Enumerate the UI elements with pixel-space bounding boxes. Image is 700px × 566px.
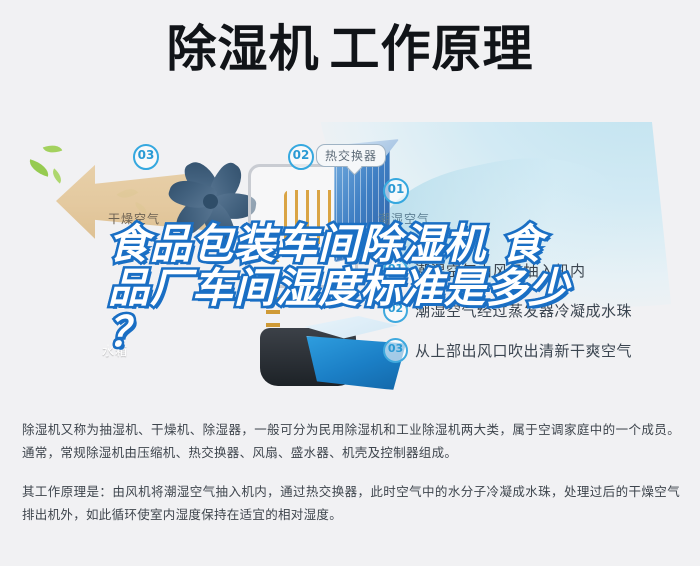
step-number: 01 [383,258,408,283]
page-title: 除湿机工作原理 [0,24,700,74]
diagram-marker-03: 03 [133,144,159,170]
diagram-marker-01: 01 [383,178,409,204]
fan-hub [203,194,218,209]
dehumidifier-diagram: 干燥空气 水箱 03 02 热交换器 01 潮湿空气 [0,122,700,407]
step-text: 从上部出风口吹出清新干爽空气 [415,340,632,361]
heat-exchanger-callout: 热交换器 [316,144,386,167]
page-root: 除湿机工作原理 干燥空气 [0,0,700,566]
list-item: 03 从上部出风口吹出清新干爽空气 [383,330,693,370]
leaf-icon [43,141,63,157]
steps-list: 01 潮湿空气由风机抽入机内 02 潮湿空气经过蒸发器冷凝成水珠 03 从上部出… [383,250,693,370]
water-tank-label: 水箱 [102,342,128,359]
body-paragraph-2: 其工作原理是：由风机将潮湿空气抽入机内，通过热交换器，此时空气中的水分子冷凝成水… [22,480,680,526]
list-item: 01 潮湿空气由风机抽入机内 [383,250,693,290]
diagram-marker-02: 02 [288,144,314,170]
page-title-part-b: 工作原理 [330,20,534,78]
dry-air-label: 干燥空气 [108,210,160,227]
article-body: 除湿机又称为抽湿机、干燥机、除湿器，一般可分为民用除湿机和工业除湿机两大类，属于… [22,418,680,526]
list-item: 02 潮湿空气经过蒸发器冷凝成水珠 [383,290,693,330]
dehumidifier-machine-graphic [242,140,392,370]
leaf-icon [27,159,51,177]
step-number: 02 [383,298,408,323]
leaf-icon [49,168,65,183]
page-title-part-a: 除湿机 [167,20,320,78]
humid-air-label: 潮湿空气 [378,210,430,227]
step-text: 潮湿空气经过蒸发器冷凝成水珠 [415,300,632,321]
step-number: 03 [383,338,408,363]
step-text: 潮湿空气由风机抽入机内 [415,260,586,281]
body-paragraph-1: 除湿机又称为抽湿机、干燥机、除湿器，一般可分为民用除湿机和工业除湿机两大类，属于… [22,418,680,464]
